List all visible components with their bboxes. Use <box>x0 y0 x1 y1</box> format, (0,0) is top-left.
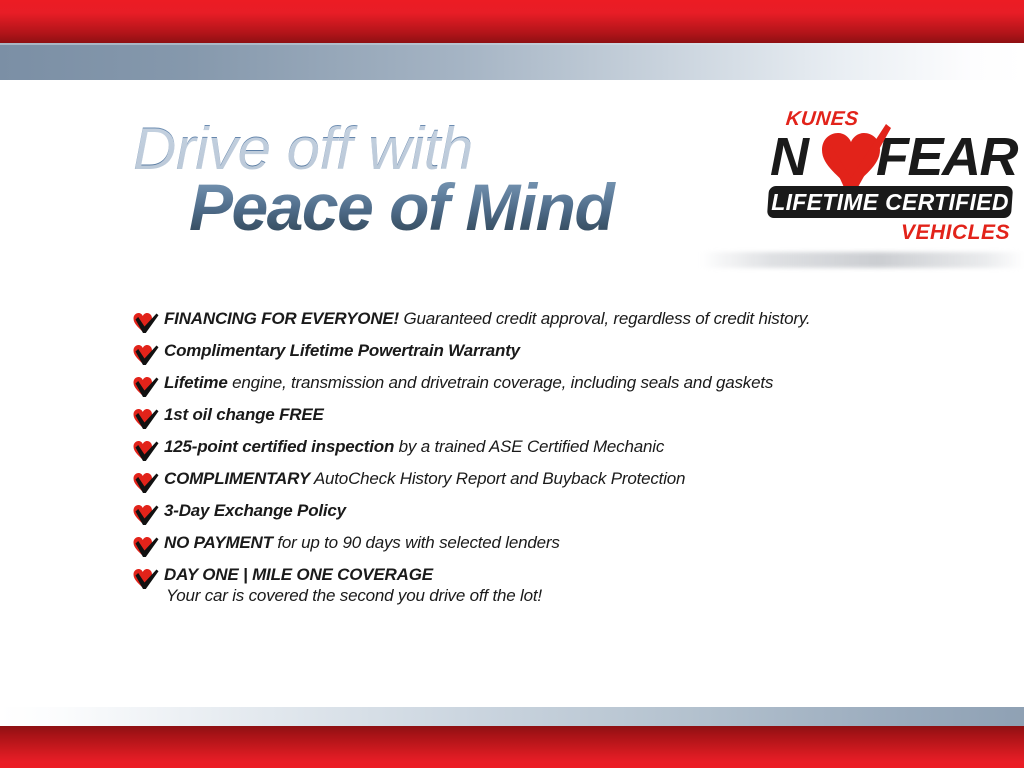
heart-check-icon <box>133 408 159 430</box>
promo-page: Drive off with Peace of Mind KUNES N FEA… <box>0 0 1024 768</box>
list-item: 3-Day Exchange Policy <box>133 502 933 534</box>
list-item: FINANCING FOR EVERYONE! Guaranteed credi… <box>133 310 933 342</box>
list-item-text: COMPLIMENTARY AutoCheck History Report a… <box>164 470 933 488</box>
list-item: DAY ONE | MILE ONE COVERAGE Your car is … <box>133 566 933 605</box>
logo-no-fear-wordmark: N FEAR <box>768 128 1016 190</box>
top-red-banner <box>0 0 1024 43</box>
logo-word-fear: FEAR <box>876 130 1017 184</box>
list-item-text: 3-Day Exchange Policy <box>164 502 933 520</box>
kunes-no-fear-logo: KUNES N FEAR LIFETIME CERTIFIED VEHICLES <box>768 108 1016 248</box>
list-item: Complimentary Lifetime Powertrain Warran… <box>133 342 933 374</box>
list-item-subtext: Your car is covered the second you drive… <box>164 587 933 605</box>
list-item-rest: for up to 90 days with selected lenders <box>273 533 560 552</box>
headline-line-2: Peace of Mind <box>189 173 733 242</box>
list-item-text: FINANCING FOR EVERYONE! Guaranteed credi… <box>164 310 933 328</box>
list-item: Lifetime engine, transmission and drivet… <box>133 374 933 406</box>
list-item: COMPLIMENTARY AutoCheck History Report a… <box>133 470 933 502</box>
list-item-text: 1st oil change FREE <box>164 406 933 424</box>
list-item-rest: AutoCheck History Report and Buyback Pro… <box>310 469 685 488</box>
heart-check-icon <box>133 472 159 494</box>
list-item-text: NO PAYMENT for up to 90 days with select… <box>164 534 933 552</box>
top-gray-banner <box>0 43 1024 80</box>
list-item-bold: 1st oil change FREE <box>164 405 324 424</box>
list-item-bold: Lifetime <box>164 373 228 392</box>
heart-check-icon <box>133 312 159 334</box>
list-item-bold: 125-point certified inspection <box>164 437 394 456</box>
heart-check-icon <box>133 440 159 462</box>
logo-letter-n: N <box>770 130 807 184</box>
list-item-bold: COMPLIMENTARY <box>164 469 310 488</box>
list-item-bold: DAY ONE | MILE ONE COVERAGE <box>164 565 433 584</box>
list-item-rest: by a trained ASE Certified Mechanic <box>394 437 664 456</box>
list-item-text: 125-point certified inspection by a trai… <box>164 438 933 456</box>
list-item: 1st oil change FREE <box>133 406 933 438</box>
logo-tagline-text: LIFETIME CERTIFIED <box>768 186 1012 218</box>
bottom-gray-banner <box>0 707 1024 726</box>
heart-check-icon <box>133 536 159 558</box>
list-item: NO PAYMENT for up to 90 days with select… <box>133 534 933 566</box>
bottom-red-banner <box>0 726 1024 768</box>
list-item-bold: 3-Day Exchange Policy <box>164 501 346 520</box>
heart-check-icon <box>133 376 159 398</box>
heart-check-icon <box>133 568 159 590</box>
list-item-text: Complimentary Lifetime Powertrain Warran… <box>164 342 933 360</box>
list-item-text: Lifetime engine, transmission and drivet… <box>164 374 933 392</box>
list-item-bold: Complimentary Lifetime Powertrain Warran… <box>164 341 520 360</box>
heart-check-icon <box>133 504 159 526</box>
list-item-rest: Guaranteed credit approval, regardless o… <box>399 309 810 328</box>
headline-divider-band <box>700 252 1024 268</box>
heart-check-icon <box>133 344 159 366</box>
logo-word-vehicles: VEHICLES <box>901 221 1010 245</box>
benefits-list: FINANCING FOR EVERYONE! Guaranteed credi… <box>133 310 933 605</box>
list-item-rest: engine, transmission and drivetrain cove… <box>228 373 774 392</box>
list-item: 125-point certified inspection by a trai… <box>133 438 933 470</box>
headline-block: Drive off with Peace of Mind <box>133 120 733 241</box>
list-item-bold: FINANCING FOR EVERYONE! <box>164 309 399 328</box>
list-item-bold: NO PAYMENT <box>164 533 273 552</box>
list-item-text: DAY ONE | MILE ONE COVERAGE <box>164 566 933 584</box>
